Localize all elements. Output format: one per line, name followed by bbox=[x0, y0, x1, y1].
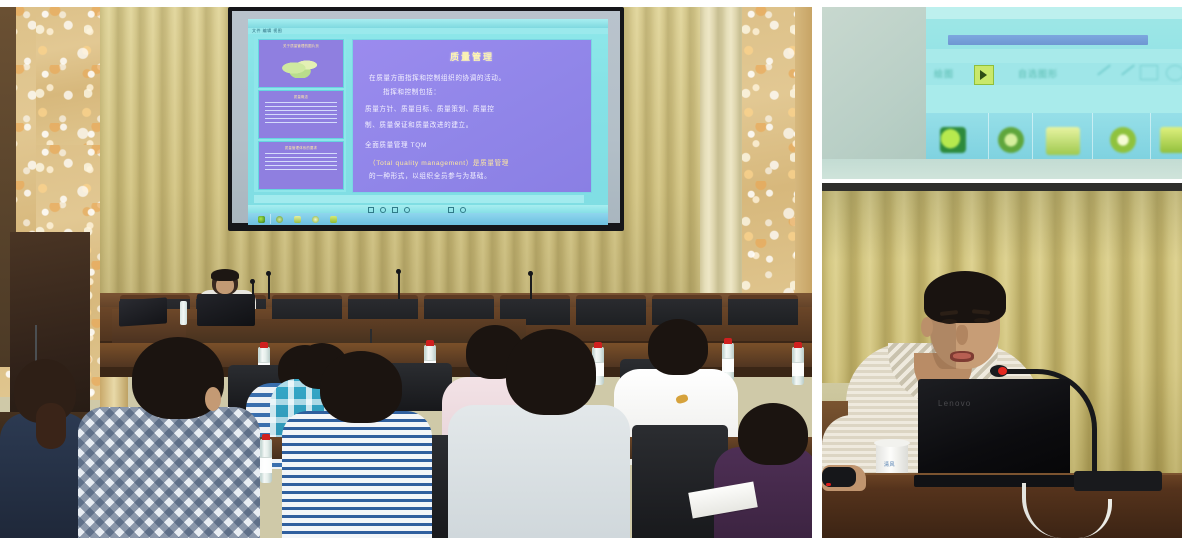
ear bbox=[205, 387, 221, 411]
water-bottle bbox=[792, 347, 804, 385]
audience-member-head bbox=[648, 319, 708, 375]
drawing-toolbar-label: 绘图 bbox=[934, 67, 954, 80]
drawing-toolbar bbox=[248, 205, 608, 213]
speaker-mouth-inner bbox=[953, 353, 971, 359]
status-bar bbox=[254, 195, 584, 203]
paper-cup-rim bbox=[874, 439, 910, 447]
rectangle-icon[interactable] bbox=[1140, 65, 1158, 80]
laptop-primary bbox=[197, 294, 255, 326]
menu-bar bbox=[248, 28, 608, 34]
slide-area-blank bbox=[926, 85, 1182, 113]
powerpoint-icon[interactable] bbox=[1160, 127, 1182, 153]
thumbnail-3-label: 质量管理体系的要求 bbox=[259, 145, 343, 150]
folder-icon[interactable] bbox=[1046, 127, 1080, 155]
internet-explorer-icon[interactable] bbox=[276, 216, 283, 223]
slide-line-2: 指挥和控制包括： bbox=[383, 86, 441, 96]
slide-line-5: 全面质量管理 TQM bbox=[365, 139, 427, 149]
lecture-hall-photo: 文件 编辑 视图 关于质量管理的图片页 质量概念 质量管理体系的要求 bbox=[0, 7, 812, 538]
laptop-secondary bbox=[119, 297, 167, 326]
thumbnail-2-label: 质量概念 bbox=[259, 94, 343, 99]
thumbnail-1-image bbox=[277, 53, 324, 77]
media-player-icon[interactable] bbox=[258, 216, 265, 223]
speaker-eye-left bbox=[942, 319, 957, 324]
wall-below-screen bbox=[822, 159, 1182, 179]
thumbnail-2-lines bbox=[265, 102, 337, 126]
slide-line-4: 制、质量保证和质量改进的建立。 bbox=[365, 119, 473, 129]
speaker-hair bbox=[924, 271, 1006, 323]
paper-cup-label: 清风 bbox=[884, 461, 895, 468]
menu-bar-text: 文件 编辑 视图 bbox=[252, 28, 282, 34]
selected-text-bar bbox=[948, 35, 1148, 45]
audience-member-torso bbox=[282, 411, 432, 538]
audience-member-head bbox=[738, 403, 808, 465]
projection-screen-frame: 文件 编辑 视图 关于质量管理的图片页 质量概念 质量管理体系的要求 bbox=[228, 7, 624, 231]
projection-screen-surface: 文件 编辑 视图 关于质量管理的图片页 质量概念 质量管理体系的要求 bbox=[232, 11, 620, 223]
speaker-ear bbox=[921, 317, 933, 337]
microphone-indicator-light bbox=[998, 367, 1007, 375]
slide-line-3: 质量方针、质量目标、质量策划、质量控 bbox=[365, 103, 495, 113]
marble-pilaster-right bbox=[795, 7, 812, 307]
slide-line-7: 的一种形式，以组织全员参与为基础。 bbox=[369, 170, 491, 180]
oval-icon[interactable] bbox=[1166, 65, 1182, 81]
thumbnail-3-lines bbox=[265, 153, 337, 173]
speaker-eye-right bbox=[974, 318, 989, 323]
presenter-hair bbox=[211, 269, 239, 281]
folder-icon[interactable] bbox=[294, 216, 301, 223]
audience-member-torso bbox=[78, 407, 260, 538]
presenter-water-bottle bbox=[180, 301, 187, 325]
current-slide: 质量管理 在质量方面指挥和控制组织的协调的活动。 指挥和控制包括： 质量方针、质… bbox=[352, 39, 592, 193]
autoshapes-label: 自选图形 bbox=[1018, 67, 1058, 80]
slide-thumbnail-2[interactable]: 质量概念 bbox=[258, 90, 344, 139]
mouse-led bbox=[826, 483, 831, 486]
thumbnail-1-label: 关于质量管理的图片页 bbox=[259, 43, 343, 48]
head-table-chair bbox=[576, 295, 646, 325]
toolbar-row bbox=[926, 49, 1182, 63]
powerpoint-icon[interactable] bbox=[330, 216, 337, 223]
blinds-shadow bbox=[822, 191, 1182, 261]
window-top-band bbox=[926, 7, 1182, 19]
head-table-chair bbox=[728, 295, 798, 325]
table-microphone bbox=[398, 273, 400, 299]
play-icon[interactable] bbox=[1110, 127, 1136, 153]
play-icon[interactable] bbox=[312, 216, 319, 223]
table-microphone bbox=[268, 275, 270, 299]
slide-line-6: （Total quality management）是质量管理 bbox=[369, 157, 509, 167]
slide-thumbnail-3[interactable]: 质量管理体系的要求 bbox=[258, 141, 344, 190]
slide-line-1: 在质量方面指挥和控制组织的协调的活动。 bbox=[369, 72, 506, 82]
media-player-icon[interactable] bbox=[940, 127, 966, 153]
water-bottle bbox=[260, 439, 272, 483]
ponytail bbox=[36, 403, 66, 449]
slide-thumbnail-1[interactable]: 关于质量管理的图片页 bbox=[258, 39, 344, 88]
marble-column-upper bbox=[36, 7, 104, 147]
slide-title: 质量管理 bbox=[353, 50, 591, 63]
audience-member-head bbox=[320, 351, 402, 423]
photo-collage: 文件 编辑 视图 关于质量管理的图片页 质量概念 质量管理体系的要求 bbox=[0, 0, 1182, 551]
wall-left-blur bbox=[822, 7, 926, 179]
projected-screen-closeup-photo: 绘图 自选图形 bbox=[822, 7, 1182, 179]
windows-taskbar bbox=[248, 213, 608, 225]
table-microphone bbox=[530, 275, 532, 299]
laptop-brand-label: Lenovo bbox=[938, 399, 971, 408]
internet-explorer-icon[interactable] bbox=[998, 127, 1024, 153]
audience-member-head bbox=[506, 329, 596, 415]
microphone-base bbox=[1074, 471, 1162, 491]
powerpoint-window: 文件 编辑 视图 关于质量管理的图片页 质量概念 质量管理体系的要求 bbox=[248, 19, 608, 217]
speaker-nose bbox=[956, 325, 968, 345]
draw-menu-button[interactable] bbox=[974, 65, 994, 85]
audience-member-torso bbox=[448, 405, 630, 538]
window-titlebar bbox=[248, 19, 608, 28]
presenter-microphone bbox=[252, 283, 254, 303]
speaker-closeup-photo: Lenovo 清风 bbox=[822, 183, 1182, 538]
